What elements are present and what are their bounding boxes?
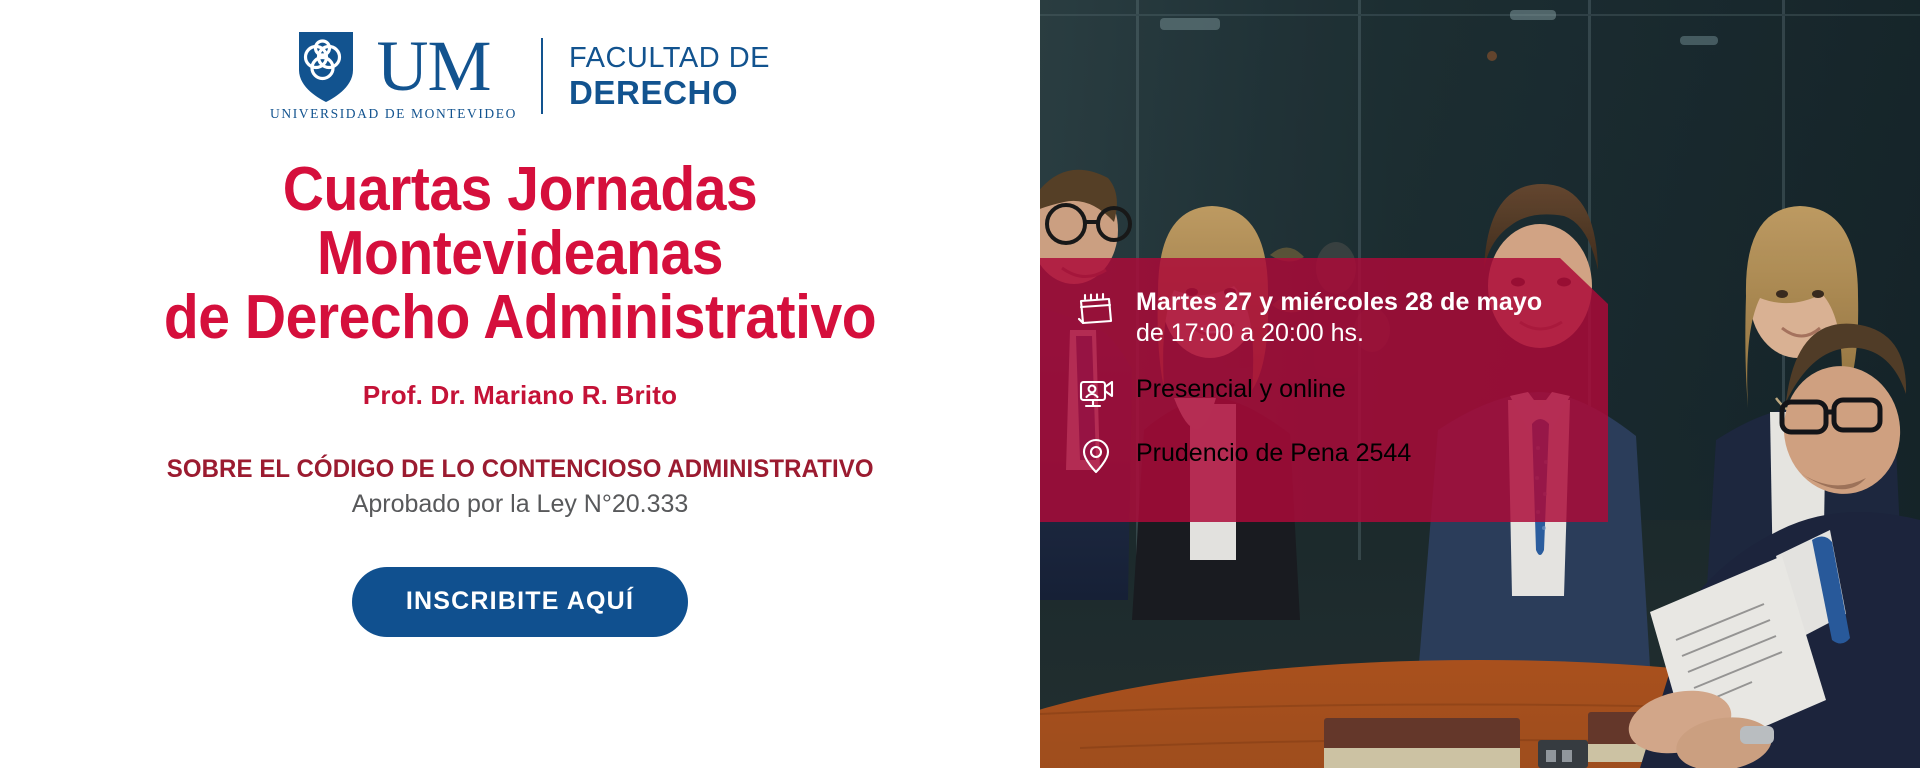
event-hours: de 17:00 a 20:00 hs.	[1136, 318, 1542, 349]
logo-divider	[541, 38, 543, 114]
university-name: UNIVERSIDAD DE MONTEVIDEO	[270, 106, 517, 122]
um-logo-row: UM	[296, 30, 490, 104]
faculty-line-2: DERECHO	[569, 76, 770, 109]
headline-line-2: Montevideanas	[69, 222, 971, 286]
event-dates: Martes 27 y miércoles 28 de mayo	[1136, 288, 1542, 316]
event-banner: UM UNIVERSIDAD DE MONTEVIDEO FACULTAD DE…	[0, 0, 1920, 768]
info-row-modality: Presencial y online	[1076, 370, 1608, 412]
faculty-line-1: FACULTAD DE	[569, 44, 770, 73]
event-modality: Presencial y online	[1136, 374, 1346, 404]
headline-line-1: Cuartas Jornadas	[69, 158, 971, 222]
calendar-icon	[1076, 290, 1116, 330]
um-initials: UM	[376, 37, 490, 96]
info-row-address: Prudencio de Pena 2544	[1076, 434, 1608, 476]
page-title: Cuartas Jornadas Montevideanas de Derech…	[69, 158, 971, 350]
subject-approved-law: Aprobado por la Ley N°20.333	[352, 490, 689, 519]
cta-wrapper: INSCRIBITE AQUÍ	[352, 567, 688, 637]
event-photo: Martes 27 y miércoles 28 de mayo de 17:0…	[1040, 0, 1920, 768]
headline-line-3: de Derecho Administrativo	[69, 286, 971, 350]
um-shield-knot-icon	[296, 30, 370, 104]
register-button[interactable]: INSCRIBITE AQUÍ	[352, 567, 688, 637]
video-presentation-icon	[1076, 372, 1116, 412]
logo-lockup: UM UNIVERSIDAD DE MONTEVIDEO FACULTAD DE…	[270, 30, 770, 122]
info-row-date: Martes 27 y miércoles 28 de mayo de 17:0…	[1076, 288, 1608, 348]
subject-title: SOBRE EL CÓDIGO DE LO CONTENCIOSO ADMINI…	[167, 455, 874, 484]
info-text-date: Martes 27 y miércoles 28 de mayo de 17:0…	[1136, 288, 1542, 348]
info-rows: Martes 27 y miércoles 28 de mayo de 17:0…	[1040, 258, 1608, 522]
speaker-name: Prof. Dr. Mariano R. Brito	[363, 380, 677, 411]
faculty-name-block: FACULTAD DE DERECHO	[569, 44, 770, 109]
um-logo: UM UNIVERSIDAD DE MONTEVIDEO	[270, 30, 517, 122]
left-content-pane: UM UNIVERSIDAD DE MONTEVIDEO FACULTAD DE…	[0, 0, 1040, 768]
location-pin-icon	[1076, 436, 1116, 476]
event-address: Prudencio de Pena 2544	[1136, 438, 1411, 468]
